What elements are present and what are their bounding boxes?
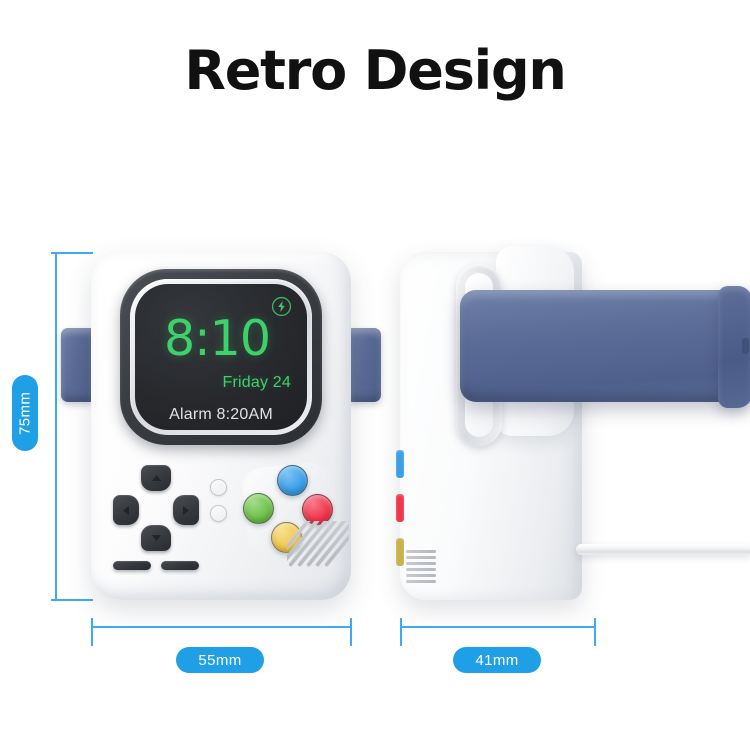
action-button-green[interactable] (243, 493, 274, 524)
side-edge-yellow (396, 538, 404, 566)
front-width-dimension-line (91, 626, 351, 628)
side-button-edges (396, 450, 405, 574)
dpad (113, 465, 199, 551)
height-dimension-line (55, 252, 57, 600)
side-width-dimension-label: 41mm (453, 647, 541, 673)
arrow-down-icon (151, 534, 162, 542)
front-width-tick-left (91, 618, 93, 646)
height-dimension-tick-bottom (51, 599, 93, 601)
front-view-product: 8:10 Friday 24 Alarm 8:20AM (91, 252, 351, 600)
start-button[interactable] (161, 561, 199, 570)
side-view-product (400, 252, 750, 600)
charging-cable (576, 544, 750, 555)
dpad-left-button[interactable] (113, 495, 139, 525)
speaker-grille-side (406, 548, 440, 584)
front-width-dimension-label: 55mm (176, 647, 264, 673)
watch-date: Friday 24 (223, 374, 292, 392)
watch-strap-right (349, 328, 381, 402)
side-width-dimension-line (400, 626, 595, 628)
watch-strap-left (61, 328, 93, 402)
product-image-canvas: Retro Design 75mm 8:10 Friday 24 Alarm 8… (0, 0, 750, 750)
side-width-tick-right (594, 618, 596, 646)
watch-band-side (460, 290, 750, 402)
front-width-tick-right (350, 618, 352, 646)
watch-band-notch (742, 338, 749, 354)
watch-alarm-text: Alarm 8:20AM (135, 406, 307, 424)
front-width-label-text: 55mm (198, 652, 241, 669)
watch-bezel: 8:10 Friday 24 Alarm 8:20AM (120, 269, 322, 445)
dpad-up-button[interactable] (141, 465, 171, 491)
dpad-down-button[interactable] (141, 525, 171, 551)
mini-button-bottom[interactable] (210, 505, 227, 522)
watch-ring: 8:10 Friday 24 Alarm 8:20AM (130, 279, 312, 435)
side-edge-blue (396, 450, 404, 478)
side-edge-red (396, 494, 404, 522)
side-width-label-text: 41mm (475, 652, 518, 669)
select-button[interactable] (113, 561, 151, 570)
side-width-tick-left (400, 618, 402, 646)
height-dimension-label: 75mm (12, 375, 38, 451)
height-dimension-tick-top (51, 252, 93, 254)
arrow-up-icon (151, 474, 162, 482)
arrow-right-icon (182, 505, 190, 516)
watch-screen[interactable]: 8:10 Friday 24 Alarm 8:20AM (135, 284, 307, 430)
height-dimension-label-text: 75mm (17, 391, 34, 434)
action-button-blue[interactable] (277, 465, 308, 496)
watch-time: 8:10 (135, 314, 299, 363)
dpad-right-button[interactable] (173, 495, 199, 525)
arrow-left-icon (122, 505, 130, 516)
console-controls (91, 457, 351, 587)
mini-button-top[interactable] (210, 479, 227, 496)
speaker-grille-front (287, 521, 349, 583)
page-title: Retro Design (0, 44, 750, 98)
